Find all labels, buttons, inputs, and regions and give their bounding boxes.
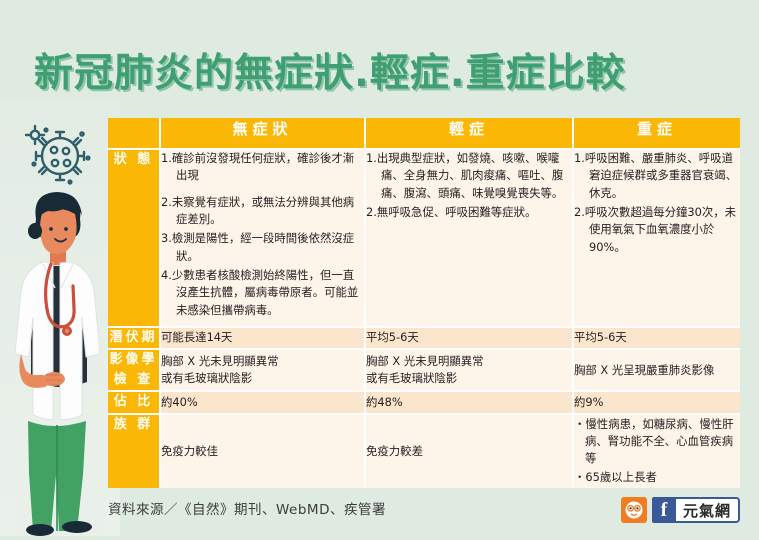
- rowlabel-status: 狀 態: [108, 149, 160, 327]
- facebook-icon[interactable]: f: [652, 497, 676, 523]
- page-title: 新冠肺炎的無症狀.輕症.重症比較: [34, 42, 734, 98]
- rowlabel-population: 族 群: [108, 414, 160, 488]
- cell-proportion-mild: 約48%: [365, 391, 573, 413]
- brand-logo[interactable]: f 元氣網: [621, 497, 740, 523]
- cell-incubation-asymptomatic: 可能長達14天: [160, 327, 365, 349]
- table-header-row: 無症狀 輕症 重症: [108, 118, 740, 149]
- header-severe: 重症: [573, 118, 740, 149]
- list-item: 2.無呼吸急促、呼吸困難等症狀。: [366, 204, 572, 221]
- cell-population-severe: ・慢性病患，如糖尿病、慢性肝病、腎功能不全、心血管疾病等 ・65歲以上長者: [573, 414, 740, 488]
- cell-proportion-severe: 約9%: [573, 391, 740, 413]
- list-item: 2.呼吸次數超過每分鐘30次，未使用氧氣下血氧濃度小於90%。: [574, 204, 740, 256]
- table-row-imaging: 影像學 檢 查 胸部 X 光未見明顯異常 或有毛玻璃狀陰影 胸部 X 光未見明顯…: [108, 349, 740, 391]
- header-asymptomatic: 無症狀: [160, 118, 365, 149]
- coronavirus-icon: [22, 118, 98, 190]
- list-item: 2.未察覺有症狀，或無法分辨與其他病症差別。: [161, 194, 364, 229]
- rowlabel-imaging-line2: 檢 查: [108, 370, 159, 390]
- cell-status-severe: 1.呼吸困難、嚴重肺炎、呼吸道窘迫症候群或多重器官衰竭、休克。 2.呼吸次數超過…: [573, 149, 740, 327]
- list-item: 1.確診前沒發現任何症狀，確診後才漸出現: [161, 150, 364, 185]
- list-item: ・慢性病患，如糖尿病、慢性肝病、腎功能不全、心血管疾病等: [574, 416, 740, 468]
- rowlabel-imaging: 影像學 檢 查: [108, 349, 160, 391]
- list-item: 3.檢測是陽性，經一段時間後依然沒症狀。: [161, 230, 364, 265]
- list-item: ・65歲以上長者: [574, 469, 740, 486]
- cell-imaging-severe: 胸部 X 光呈現嚴重肺炎影像: [573, 349, 740, 391]
- cell-incubation-mild: 平均5-6天: [365, 327, 573, 349]
- cell-incubation-severe: 平均5-6天: [573, 327, 740, 349]
- rowlabel-incubation: 潛伏期: [108, 327, 160, 349]
- table-row-status: 狀 態 1.確診前沒發現任何症狀，確診後才漸出現 2.未察覺有症狀，或無法分辨與…: [108, 149, 740, 327]
- rowlabel-imaging-line1: 影像學: [108, 350, 159, 370]
- cell-imaging-mild: 胸部 X 光未見明顯異常 或有毛玻璃狀陰影: [365, 349, 573, 391]
- header-corner: [108, 118, 160, 149]
- list-item: 1.出現典型症狀，如發燒、咳嗽、喉嚨痛、全身無力、肌肉痠痛、嘔吐、腹痛、腹瀉、頭…: [366, 150, 572, 202]
- cell-status-asymptomatic: 1.確診前沒發現任何症狀，確診後才漸出現 2.未察覺有症狀，或無法分辨與其他病症…: [160, 149, 365, 327]
- header-mild: 輕症: [365, 118, 573, 149]
- list-item: 4.少數患者核酸檢測始終陽性，但一直沒產生抗體，屬病毒帶原者。可能並未感染但攜帶…: [161, 267, 364, 319]
- cell-status-mild: 1.出現典型症狀，如發燒、咳嗽、喉嚨痛、全身無力、肌肉痠痛、嘔吐、腹痛、腹瀉、頭…: [365, 149, 573, 327]
- mascot-icon: [621, 497, 647, 523]
- cell-proportion-asymptomatic: 約40%: [160, 391, 365, 413]
- source-text: 資料來源／《自然》期刊、WebMD、疾管署: [108, 498, 386, 518]
- doctor-illustration: [6, 185, 110, 536]
- cell-imaging-asymptomatic: 胸部 X 光未見明顯異常 或有毛玻璃狀陰影: [160, 349, 365, 391]
- comparison-table: 無症狀 輕症 重症 狀 態 1.確診前沒發現任何症狀，確診後才漸出現 2.未察覺…: [108, 118, 740, 488]
- rowlabel-proportion: 佔 比: [108, 391, 160, 413]
- cell-population-asymptomatic: 免疫力較佳: [160, 414, 365, 488]
- table-row-population: 族 群 免疫力較佳 免疫力較差 ・慢性病患，如糖尿病、慢性肝病、腎功能不全、心血…: [108, 414, 740, 488]
- table-row-incubation: 潛伏期 可能長達14天 平均5-6天 平均5-6天: [108, 327, 740, 349]
- table-row-proportion: 佔 比 約40% 約48% 約9%: [108, 391, 740, 413]
- cell-population-mild: 免疫力較差: [365, 414, 573, 488]
- brand-name[interactable]: 元氣網: [676, 497, 740, 523]
- list-item: 1.呼吸困難、嚴重肺炎、呼吸道窘迫症候群或多重器官衰竭、休克。: [574, 150, 740, 202]
